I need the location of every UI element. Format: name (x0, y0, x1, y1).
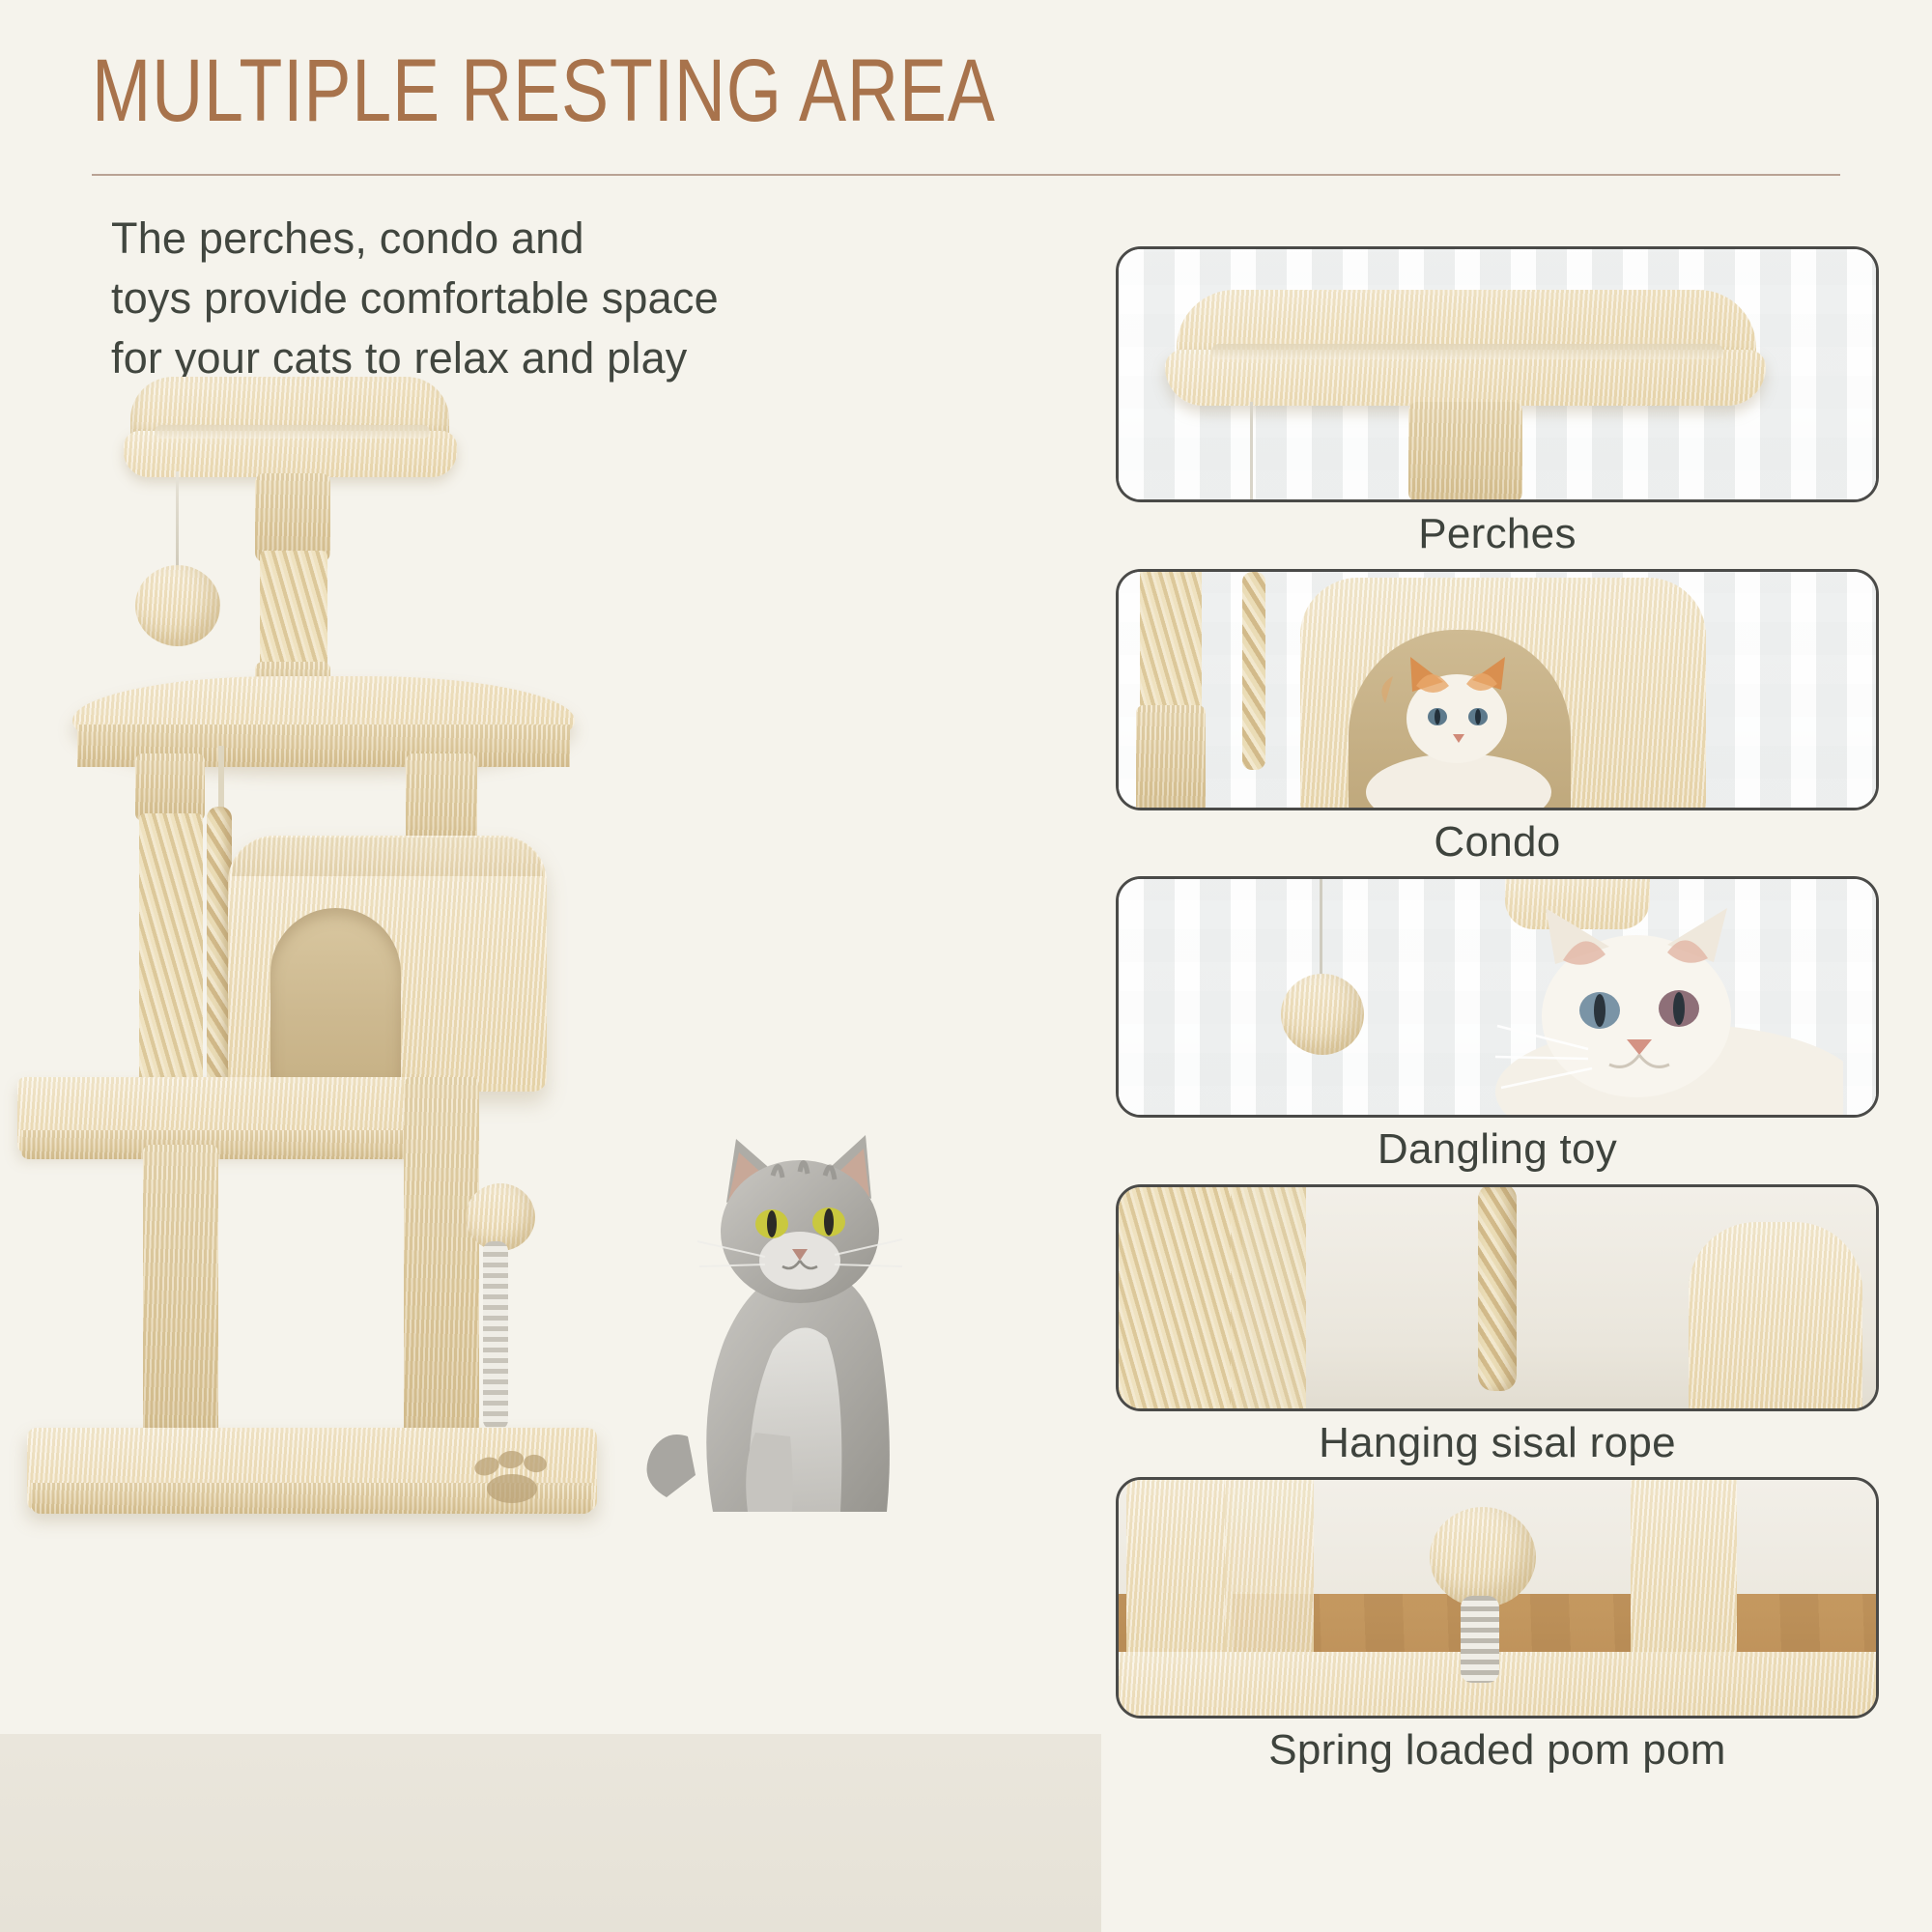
paw-print-icon (466, 1447, 562, 1507)
hanging-pom-pom (135, 565, 220, 646)
feature-panel-perches[interactable]: Perches (1116, 246, 1879, 559)
intro-line-2: toys provide comfortable space (111, 269, 1019, 328)
perch-support-post (1408, 402, 1522, 502)
perch-seat-shadow (1211, 344, 1723, 359)
grey-tabby-cat (628, 1096, 947, 1512)
condo-entrance (270, 908, 401, 1096)
left-plush-post (1126, 1477, 1233, 1673)
panel-caption: Condo (1116, 810, 1879, 867)
lower-left-post (143, 1145, 218, 1439)
condo-photo (1116, 569, 1879, 810)
ragdoll-cat-with-toy (1437, 908, 1843, 1118)
panel-caption: Perches (1116, 502, 1879, 559)
side-platform-edge (21, 1130, 421, 1159)
intro-paragraph: The perches, condo and toys provide comf… (111, 209, 1019, 388)
intro-line-1: The perches, condo and (111, 209, 1019, 269)
page-title: MULTIPLE RESTING AREA (92, 46, 1483, 135)
panel-caption: Dangling toy (1116, 1118, 1879, 1175)
left-sisal-post-secondary (1231, 1187, 1306, 1411)
pom-pom-spring-coil (1461, 1596, 1499, 1683)
sisal-rope-photo (1116, 1184, 1879, 1411)
top-post-collar (255, 473, 330, 562)
feature-panel-column: Perches (1116, 246, 1879, 1785)
product-photo-cat-tree (0, 367, 976, 1932)
lower-right-post (404, 1077, 479, 1439)
dangling-toy-string (1320, 879, 1322, 983)
rope-anchor (218, 746, 224, 815)
left-sisal-post (139, 813, 203, 1094)
feature-panel-sisal-rope[interactable]: Hanging sisal rope (1116, 1184, 1879, 1468)
spring-pom-pom (1430, 1507, 1536, 1607)
left-plush-post-2 (1225, 1477, 1314, 1668)
right-plush-post (1631, 1477, 1737, 1678)
spring-pom-pom-photo (1116, 1477, 1879, 1719)
condo-hanging-rope (1242, 572, 1265, 770)
feature-panel-spring-pom-pom[interactable]: Spring loaded pom pom (1116, 1477, 1879, 1776)
panel-caption: Hanging sisal rope (1116, 1411, 1879, 1468)
perch-photo (1116, 246, 1879, 502)
feature-panel-dangling-toy[interactable]: Dangling toy (1116, 876, 1879, 1175)
dangling-pom-pom (1281, 974, 1364, 1055)
title-divider (92, 174, 1840, 176)
feature-panel-condo[interactable]: Condo (1116, 569, 1879, 867)
left-post-collar-upper (135, 753, 205, 821)
condo-roof-shade (232, 838, 543, 876)
left-sisal-post (1119, 1187, 1242, 1411)
right-plush-post (1689, 1222, 1862, 1411)
header: MULTIPLE RESTING AREA The perches, condo… (92, 46, 1831, 135)
perch-toy-string (1250, 402, 1253, 502)
hanging-sisal-rope (1478, 1184, 1517, 1391)
condo-side-sisal-post (1140, 572, 1202, 717)
ragdoll-cat-in-condo (1356, 647, 1564, 810)
pom-pom-spring (483, 1241, 508, 1430)
top-perch-inner-shadow (155, 425, 430, 439)
condo-side-post-collar (1136, 705, 1206, 810)
hanging-toy-string (176, 471, 179, 573)
dangling-toy-photo (1116, 876, 1879, 1118)
panel-caption: Spring loaded pom pom (1116, 1719, 1879, 1776)
